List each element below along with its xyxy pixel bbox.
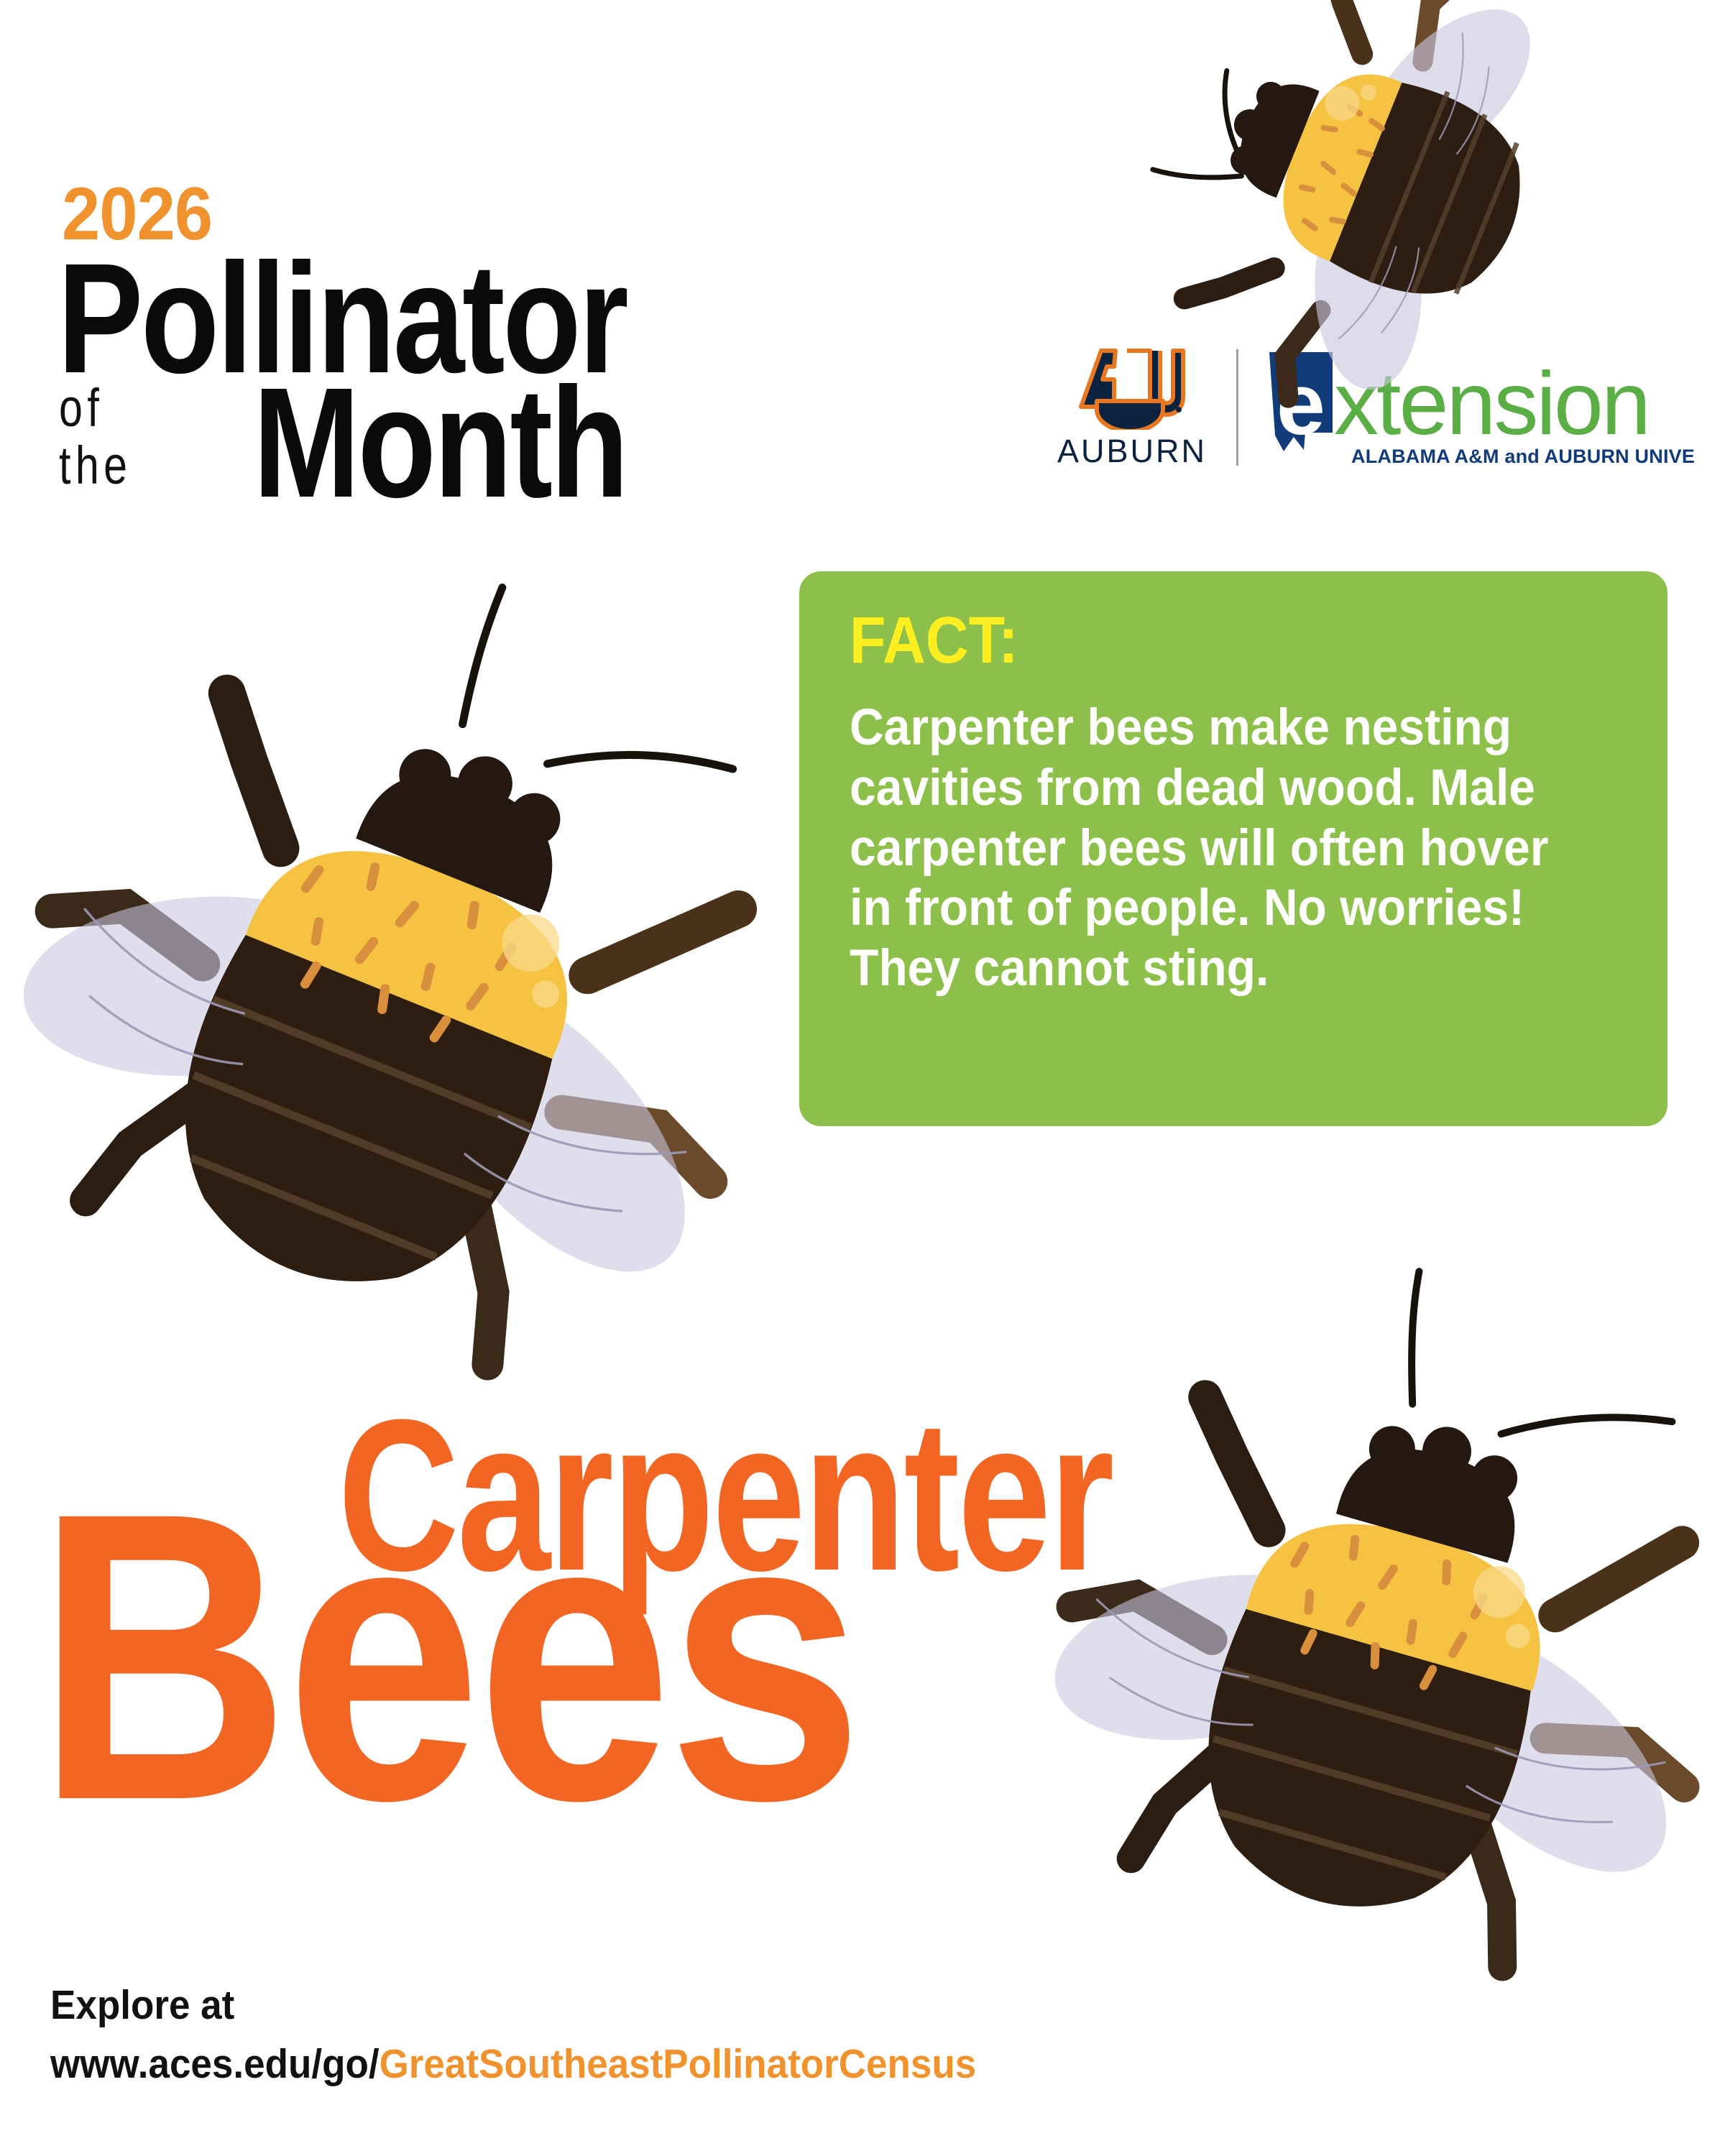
footer-url-slug: GreatSoutheastPollinatorCensus [379,2041,977,2087]
extension-universities-line: ALABAMA A&M and AUBURN UNIVERSITIES [1351,446,1695,467]
fact-body: Carpenter bees make nesting cavities fro… [850,698,1591,999]
of-word: of [59,379,132,437]
logo-divider [1236,349,1238,466]
footer: Explore at www.aces.edu/go/GreatSoutheas… [50,1982,1046,2088]
fact-label: FACT: [850,607,1018,673]
extension-logo[interactable]: e xtension ALABAMA A&M and AUBURN UNIVER… [1264,342,1695,471]
bee-illustration-top [1128,7,1588,331]
fact-card: FACT: Carpenter bees make nesting caviti… [799,571,1667,1126]
bee-illustration-left [29,568,791,1373]
poster-canvas: 2026 Pollinator of the Month AUBURN [0,0,1725,2156]
headline-carpenter: Carpenter [338,1387,1112,1603]
footer-url[interactable]: www.aces.edu/go/GreatSoutheastPollinator… [50,2041,976,2088]
the-word: the [59,437,132,494]
footer-explore-label: Explore at [50,1982,976,2030]
auburn-logo[interactable]: AUBURN [1049,338,1215,470]
auburn-wordmark: AUBURN [1049,433,1215,470]
page-title-month: Month [253,365,627,522]
bee-illustration-bottom-right [1057,1272,1725,1976]
footer-url-base: www.aces.edu/go/ [50,2041,379,2087]
auburn-au-monogram-icon [1071,338,1193,430]
of-the-label: of the [59,379,132,494]
